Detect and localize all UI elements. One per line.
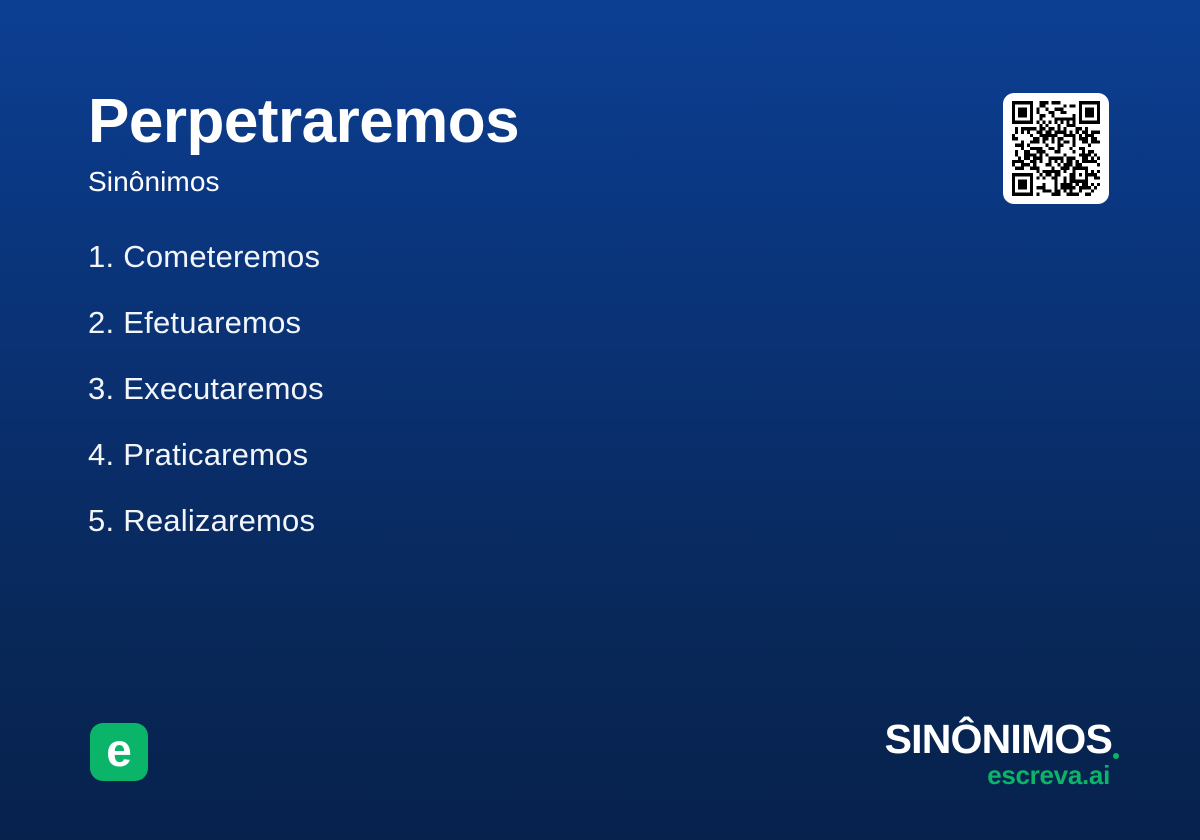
page-subtitle: Sinônimos — [88, 164, 908, 200]
list-item-word: Praticaremos — [123, 434, 308, 476]
list-item-word: Efetuaremos — [123, 302, 301, 344]
list-item-index: 2. — [88, 302, 114, 344]
brand-wordmark: SINÔNIMOS escreva.ai — [885, 718, 1112, 789]
synonym-card: Perpetraremos Sinônimos 1. Cometeremos 2… — [0, 0, 1200, 840]
list-item-word: Realizaremos — [123, 500, 315, 542]
list-item-word: Cometeremos — [123, 236, 320, 278]
list-item-index: 3. — [88, 368, 114, 410]
qr-code-canvas — [1012, 101, 1100, 196]
list-item: 4. Praticaremos — [88, 434, 788, 500]
headline-block: Perpetraremos Sinônimos — [88, 86, 908, 200]
brand-wordmark-name-text: SINÔNIMOS — [885, 716, 1112, 762]
brand-wordmark-tagline: escreva.ai — [885, 761, 1112, 789]
brand-wordmark-name: SINÔNIMOS — [885, 718, 1112, 760]
list-item-word: Executaremos — [123, 368, 324, 410]
brand-mark-letter: e — [106, 727, 132, 773]
brand-dot-icon — [1113, 753, 1119, 759]
list-item-index: 4. — [88, 434, 114, 476]
list-item: 5. Realizaremos — [88, 500, 788, 566]
page-title: Perpetraremos — [88, 86, 908, 158]
synonyms-list: 1. Cometeremos 2. Efetuaremos 3. Executa… — [88, 236, 788, 566]
list-item: 2. Efetuaremos — [88, 302, 788, 368]
list-item-index: 1. — [88, 236, 114, 278]
qr-code-icon[interactable] — [1003, 93, 1109, 204]
escreva-e-icon[interactable]: e — [90, 723, 148, 781]
list-item-index: 5. — [88, 500, 114, 542]
list-item: 3. Executaremos — [88, 368, 788, 434]
list-item: 1. Cometeremos — [88, 236, 788, 302]
